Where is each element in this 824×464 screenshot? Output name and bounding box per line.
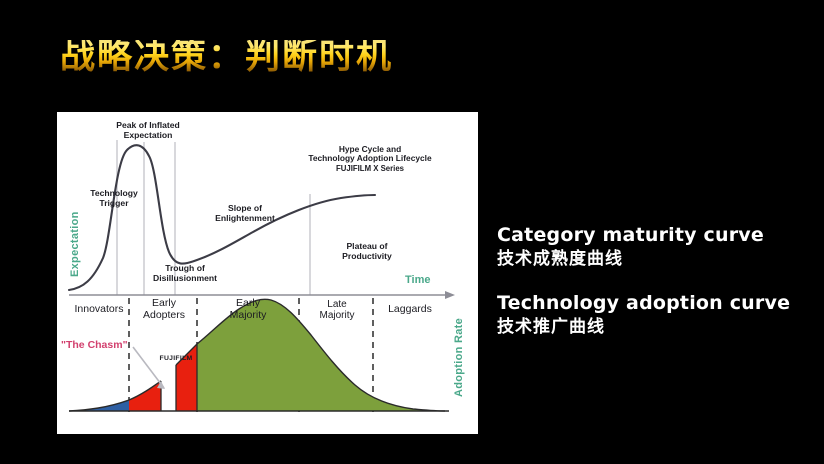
caption-en-text: Category maturity curve	[497, 224, 817, 248]
hype-label-trough-of-disillusionment: Trough of Disillusionment	[130, 264, 240, 283]
chart-title: Hype Cycle and Technology Adoption Lifec…	[285, 145, 455, 174]
caption-item-category-maturity: Category maturity curve 技术成熟度曲线	[497, 224, 817, 270]
y-axis-label-adoption-rate: Adoption Rate	[453, 318, 465, 397]
hype-cycle-chart: Technology Trigger Peak of Inflated Expe…	[57, 112, 478, 434]
caption-en-text: Technology adoption curve	[497, 292, 817, 316]
adoption-segment-late-majority: Late Majority	[307, 299, 367, 321]
y-axis-label-expectation: Expectation	[69, 211, 81, 277]
caption-zh-text: 技术推广曲线	[497, 316, 817, 338]
hype-label-slope-of-enlightenment: Slope of Enlightenment	[190, 204, 300, 223]
hype-label-peak-of-inflated-expectation: Peak of Inflated Expectation	[98, 121, 198, 140]
adoption-segment-early-majority: Early Majority	[217, 298, 279, 322]
adoption-segment-laggards: Laggards	[379, 304, 441, 316]
hype-label-plateau-of-productivity: Plateau of Productivity	[322, 242, 412, 261]
caption-list: Category maturity curve 技术成熟度曲线 Technolo…	[497, 224, 817, 360]
caption-item-technology-adoption: Technology adoption curve 技术推广曲线	[497, 292, 817, 338]
caption-zh-text: 技术成熟度曲线	[497, 248, 817, 270]
fujifilm-brand-marker: FUJIFILM	[151, 355, 201, 363]
x-axis-label-time: Time	[405, 274, 430, 286]
adoption-segment-innovators: Innovators	[69, 304, 129, 316]
chasm-gap	[161, 370, 176, 412]
hype-label-technology-trigger: Technology Trigger	[75, 189, 153, 208]
page-title: 战略决策：判断时机	[60, 40, 393, 75]
chasm-label: "The Chasm"	[61, 340, 139, 352]
adoption-segment-early-adopters: Early Adopters	[133, 298, 195, 322]
